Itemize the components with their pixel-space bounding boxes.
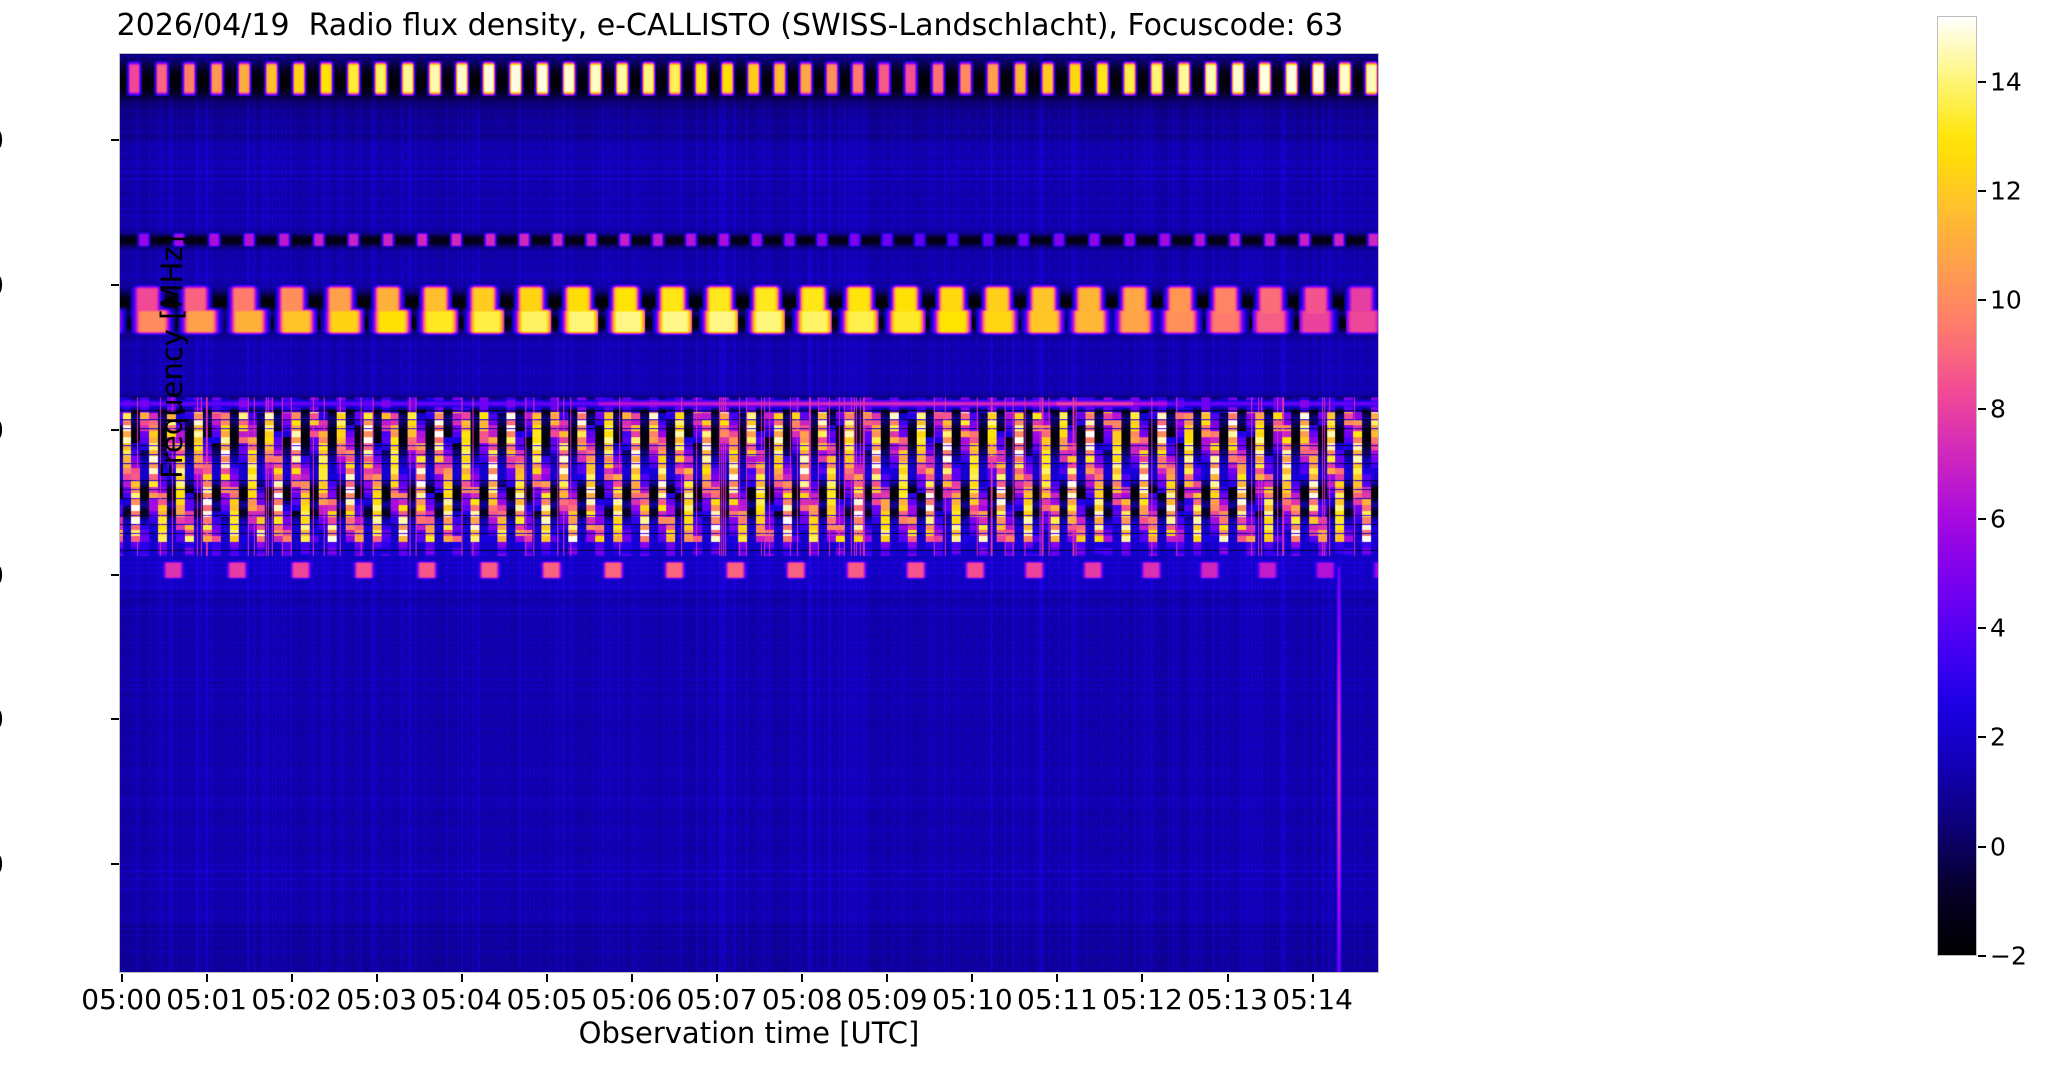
colorbar-tick-mark (1978, 627, 1986, 629)
figure-root: 2026/04/19 Radio flux density, e-CALLIST… (0, 0, 2066, 1067)
x-tick-mark (1056, 974, 1058, 982)
colorbar-tick-label: 2 (1990, 723, 2060, 752)
y-tick-mark (111, 863, 119, 865)
colorbar-tick-mark (1978, 955, 1986, 957)
colorbar-tick-mark (1978, 190, 1986, 192)
x-tick-mark (461, 974, 463, 982)
x-tick-mark (206, 974, 208, 982)
y-tick-mark (111, 284, 119, 286)
colorbar-tick-mark (1978, 299, 1986, 301)
colorbar-tick-label: 0 (1990, 832, 2060, 861)
y-tick-label: 140 (0, 268, 4, 301)
colorbar-tick-mark (1978, 736, 1986, 738)
x-tick-mark (716, 974, 718, 982)
x-tick-mark (631, 974, 633, 982)
y-tick-label: 60 (0, 848, 4, 881)
colorbar-tick-mark (1978, 518, 1986, 520)
x-tick-mark (376, 974, 378, 982)
page-title: 2026/04/19 Radio flux density, e-CALLIST… (0, 8, 1460, 43)
colorbar-tick-mark (1978, 81, 1986, 83)
colorbar-tick-label: 6 (1990, 504, 2060, 533)
y-tick-mark (111, 718, 119, 720)
x-tick-mark (546, 974, 548, 982)
colorbar-tick-label: 8 (1990, 395, 2060, 424)
y-tick-mark (111, 574, 119, 576)
y-axis-label: Frequency [MHz] (155, 177, 189, 537)
x-tick-mark (886, 974, 888, 982)
y-tick-label: 80 (0, 703, 4, 736)
x-axis-label: Observation time [UTC] (119, 1016, 1379, 1050)
y-tick-mark (111, 429, 119, 431)
x-tick-mark (121, 974, 123, 982)
x-tick-mark (291, 974, 293, 982)
x-tick-mark (801, 974, 803, 982)
y-tick-label: 120 (0, 413, 4, 446)
colorbar-tick-mark (1978, 846, 1986, 848)
x-tick-mark (1227, 974, 1229, 982)
colorbar-tick-label: 4 (1990, 614, 2060, 643)
x-tick-mark (1312, 974, 1314, 982)
y-tick-label: 160 (0, 123, 4, 156)
colorbar (1937, 16, 1977, 956)
colorbar-tick-label: 12 (1990, 176, 2060, 205)
colorbar-tick-label: 10 (1990, 286, 2060, 315)
colorbar-gradient (1938, 17, 1976, 955)
colorbar-tick-label: −2 (1990, 942, 2060, 971)
colorbar-tick-label: 14 (1990, 67, 2060, 96)
x-tick-label: 05:14 (1233, 983, 1393, 1016)
x-tick-mark (1141, 974, 1143, 982)
y-tick-mark (111, 139, 119, 141)
colorbar-tick-mark (1978, 408, 1986, 410)
spectrogram-canvas (120, 54, 1378, 972)
y-tick-label: 100 (0, 558, 4, 591)
spectrogram-plot-area (119, 53, 1379, 973)
x-tick-mark (971, 974, 973, 982)
